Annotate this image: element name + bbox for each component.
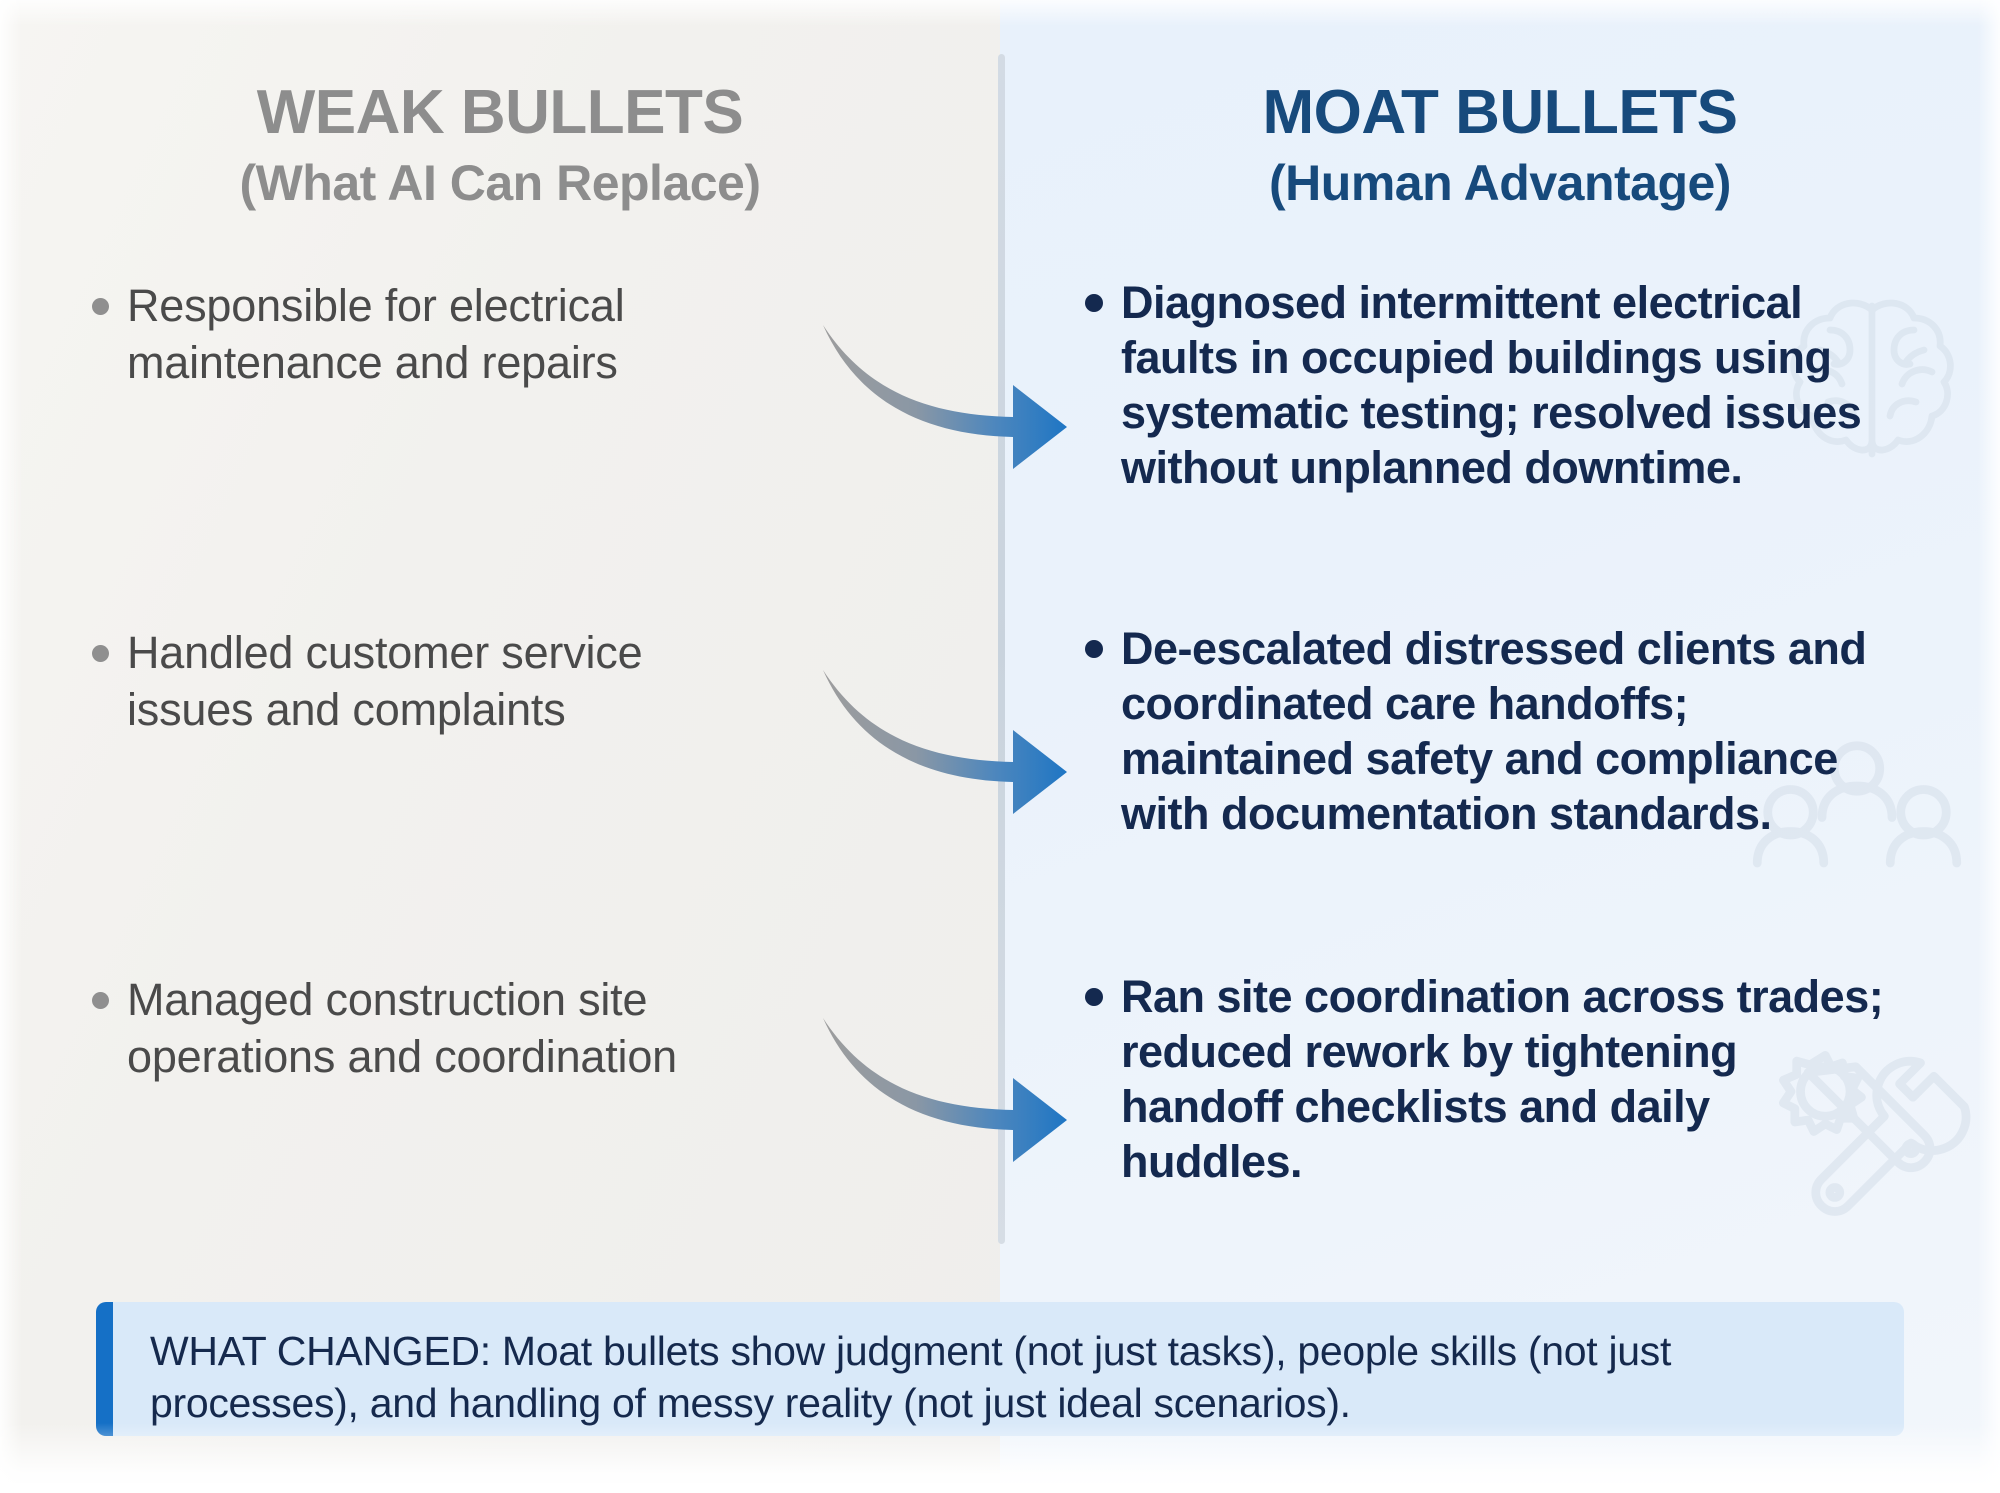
infographic-canvas: WEAK BULLETS (What AI Can Replace) Respo… (0, 0, 2000, 1493)
moat-bullet-text: Ran site coordination across trades; red… (1121, 970, 1895, 1190)
bullet-dot-icon (92, 645, 109, 662)
callout-text: WHAT CHANGED: Moat bullets show judgment… (150, 1326, 1864, 1429)
moat-bullet-text: De-escalated distressed clients and coor… (1121, 622, 1895, 842)
weak-bullets-panel-background (0, 0, 1000, 1493)
moat-bullets-subtitle: (Human Advantage) (1040, 155, 1960, 212)
weak-bullets-title: WEAK BULLETS (257, 78, 744, 147)
weak-bullets-heading: WEAK BULLETS (What AI Can Replace) (40, 78, 960, 212)
moat-bullet-item: Ran site coordination across trades; red… (1085, 970, 1895, 1190)
weak-bullet-text: Handled customer service issues and comp… (127, 625, 732, 738)
column-divider (998, 54, 1005, 1244)
what-changed-callout: WHAT CHANGED: Moat bullets show judgment… (96, 1302, 1904, 1436)
weak-bullet-item: Handled customer service issues and comp… (92, 625, 732, 738)
weak-bullet-text: Responsible for electrical maintenance a… (127, 278, 732, 391)
moat-bullet-text: Diagnosed intermittent electrical faults… (1121, 276, 1895, 496)
moat-bullet-item: De-escalated distressed clients and coor… (1085, 622, 1895, 842)
bullet-dot-icon (92, 992, 109, 1009)
weak-bullet-text: Managed construction site operations and… (127, 972, 732, 1085)
bullet-dot-icon (1085, 640, 1103, 658)
weak-bullet-item: Managed construction site operations and… (92, 972, 732, 1085)
weak-bullet-item: Responsible for electrical maintenance a… (92, 278, 732, 391)
moat-bullets-heading: MOAT BULLETS (Human Advantage) (1040, 78, 1960, 212)
bullet-dot-icon (92, 298, 109, 315)
bullet-dot-icon (1085, 988, 1103, 1006)
bullet-dot-icon (1085, 294, 1103, 312)
moat-bullets-title: MOAT BULLETS (1262, 78, 1737, 147)
callout-accent-bar (96, 1302, 113, 1436)
moat-bullet-item: Diagnosed intermittent electrical faults… (1085, 276, 1895, 496)
weak-bullets-subtitle: (What AI Can Replace) (40, 155, 960, 212)
